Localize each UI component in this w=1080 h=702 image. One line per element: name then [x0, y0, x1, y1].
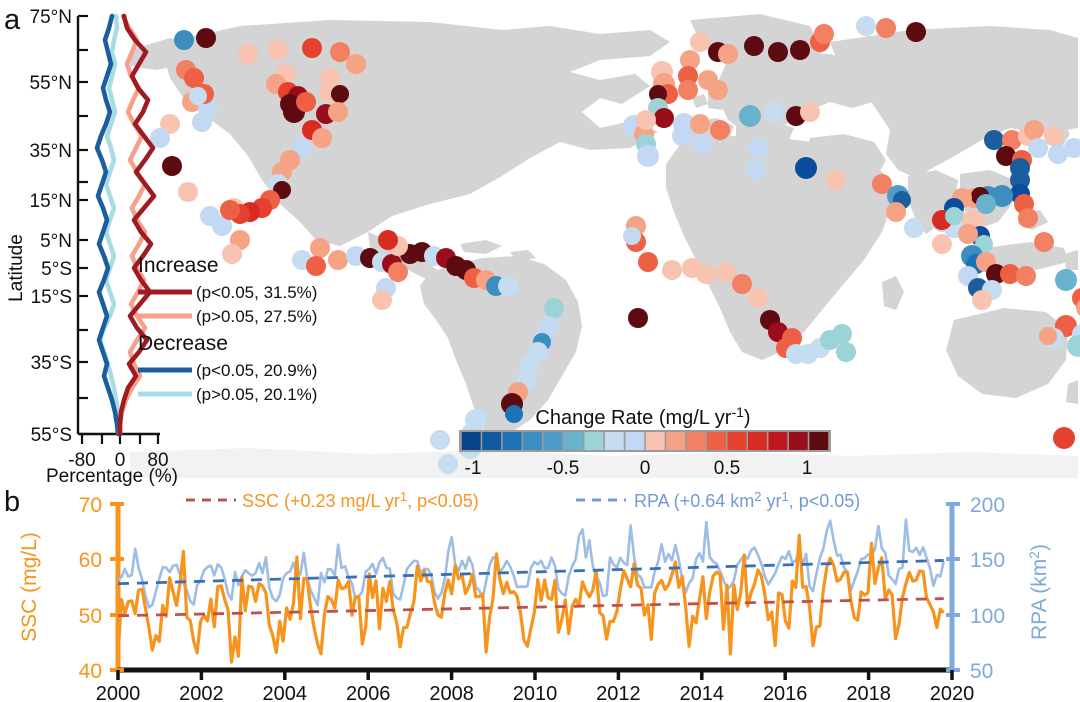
colorbar-title-tail: ): [744, 407, 751, 429]
colorbar-title-main: Change Rate (mg/L yr: [535, 407, 731, 429]
colorbar-tick-neg1: -1: [465, 458, 482, 479]
legend-ssc-main: SSC (+0.23 mg/L yr: [242, 491, 400, 511]
colorbar-cell: [666, 432, 685, 450]
colorbar-cell: [605, 432, 624, 450]
colorbar-cell: [789, 432, 808, 450]
legend-rpa-label: RPA (+0.64 km2 yr1, p<0.05): [634, 489, 860, 511]
legend-increase-nonsig-label: (p>0.05, 27.5%): [196, 307, 317, 326]
rpa-axis-title-main: RPA (km: [1028, 559, 1051, 640]
x-tick-label: 2002: [179, 683, 224, 702]
x-tick-label: 2010: [513, 683, 558, 702]
x-tick-label: 2020: [930, 683, 975, 702]
colorbar-cell: [462, 432, 481, 450]
colorbar-cell: [584, 432, 603, 450]
colorbar-cell: [503, 432, 522, 450]
panel-b-left-axis-title: SSC (mg/L): [18, 532, 41, 642]
ssc-tick-70: 70: [79, 494, 102, 517]
ssc-tick-50: 50: [79, 605, 102, 628]
panel-b-right-axis-title: RPA (km2): [1026, 544, 1051, 640]
legend-rpa-tail: , p<0.05): [789, 491, 861, 511]
rpa-tick-150: 150: [970, 549, 1005, 572]
curve-decrease-sig: [97, 16, 118, 434]
colorbar-cell: [707, 432, 726, 450]
legend-ssc-superscript: 1: [400, 489, 407, 504]
x-tick-label: 2008: [429, 683, 474, 702]
colorbar-tick-1: 1: [802, 458, 813, 479]
x-tick-label: 2014: [680, 683, 725, 702]
colorbar-cell: [728, 432, 747, 450]
colorbar-tick-0: 0: [640, 458, 651, 479]
legend-decrease-heading: Decrease: [138, 332, 228, 355]
legend-rpa-main: RPA (+0.64 km: [634, 491, 754, 511]
timeseries-chart: 70 60 50 40 200 150 100 50 2000200220042…: [0, 482, 1080, 702]
legend-decrease-nonsig-label: (p>0.05, 20.1%): [196, 385, 317, 404]
x-tick-label: 2016: [763, 683, 808, 702]
legend-rpa-superscript: 2: [754, 489, 761, 504]
colorbar-cell: [646, 432, 665, 450]
legend-rpa-mid: yr: [761, 491, 781, 511]
x-tick-label: 2018: [846, 683, 891, 702]
colorbar-cell: [523, 432, 542, 450]
panel-a-legend: Increase (p<0.05, 31.5%) (p>0.05, 27.5%)…: [130, 252, 360, 412]
x-tick-label: 2000: [96, 683, 141, 702]
colorbar-title-superscript: -1: [731, 404, 744, 420]
x-tick-label: 2006: [346, 683, 391, 702]
colorbar-tick-05: 0.5: [714, 458, 740, 479]
colorbar-cell: [482, 432, 501, 450]
panel-b-x-tick-labels: 2000200220042006200820102012201420162018…: [96, 683, 975, 702]
colorbar-title: Change Rate (mg/L yr-1): [535, 404, 750, 429]
colorbar-svg: Change Rate (mg/L yr-1) -1 -0.5 0 0.5 1: [455, 406, 835, 478]
colorbar-cell: [564, 432, 583, 450]
ssc-tick-60: 60: [79, 549, 102, 572]
ssc-tick-40: 40: [79, 660, 102, 683]
legend-increase-sig-label: (p<0.05, 31.5%): [196, 283, 317, 302]
colorbar-cell: [748, 432, 767, 450]
colorbar-cell: [625, 432, 644, 450]
rpa-tick-100: 100: [970, 605, 1005, 628]
rpa-tick-200: 200: [970, 494, 1005, 517]
timeseries-svg: 70 60 50 40 200 150 100 50 2000200220042…: [0, 482, 1080, 702]
rpa-axis-title-tail: ): [1028, 544, 1051, 551]
colorbar-cell: [687, 432, 706, 450]
rpa-tick-50: 50: [970, 660, 993, 683]
colorbar-cell: [768, 432, 787, 450]
rpa-axis-title-superscript: 2: [1026, 551, 1042, 559]
colorbar-cell: [544, 432, 563, 450]
legend-rpa-superscript-2: 1: [781, 489, 788, 504]
x-tick-label: 2012: [596, 683, 641, 702]
colorbar-tick-neg05: -0.5: [547, 458, 580, 479]
legend-decrease-sig-label: (p<0.05, 20.9%): [196, 361, 317, 380]
colorbar: Change Rate (mg/L yr-1) -1 -0.5 0 0.5 1: [455, 406, 835, 478]
legend-ssc-label: SSC (+0.23 mg/L yr1, p<0.05): [242, 489, 479, 511]
x-tick-label: 2004: [263, 683, 308, 702]
legend-increase-heading: Increase: [138, 254, 219, 277]
legend-ssc-tail: , p<0.05): [407, 491, 479, 511]
ssc-series-line: [118, 535, 944, 662]
colorbar-cell: [809, 432, 828, 450]
